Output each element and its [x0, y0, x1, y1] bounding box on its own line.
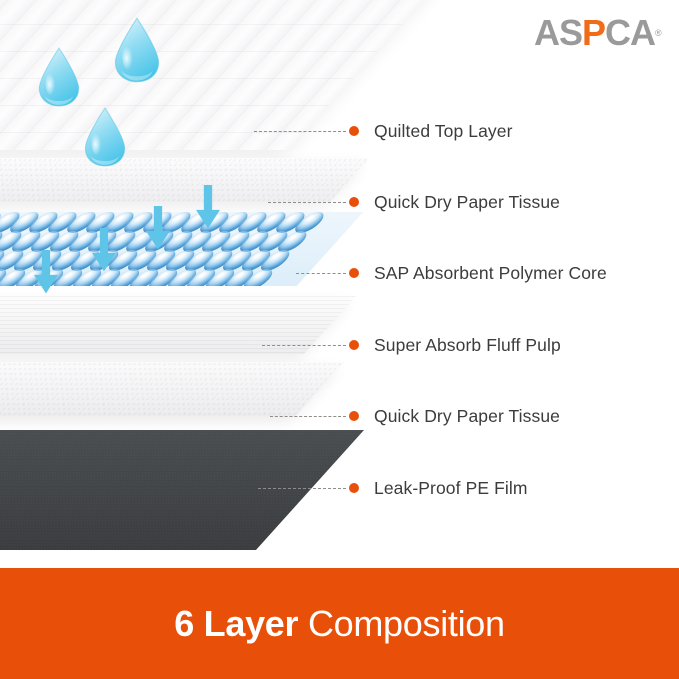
- logo-text-ca: CA: [605, 15, 655, 51]
- registered-trademark-icon: ®: [655, 28, 661, 38]
- down-arrow-icon: [146, 206, 170, 252]
- callout-label: Quick Dry Paper Tissue: [374, 192, 560, 213]
- callout-2: Quick Dry Paper Tissue: [240, 192, 560, 212]
- logo-text-as: AS: [534, 15, 582, 51]
- down-arrow-icon: [92, 228, 116, 274]
- callout-leader-line: [296, 273, 346, 274]
- callout-leader-line: [254, 131, 346, 132]
- callout-label: Super Absorb Fluff Pulp: [374, 335, 561, 356]
- callout-dot-icon: [349, 411, 359, 421]
- callout-leader-line: [262, 345, 346, 346]
- callout-3: SAP Absorbent Polymer Core: [240, 263, 607, 283]
- callout-label: Leak-Proof PE Film: [374, 478, 528, 499]
- banner-text-bold: 6 Layer: [174, 603, 298, 644]
- callout-6: Leak-Proof PE Film: [240, 478, 528, 498]
- callout-leader-line: [268, 202, 346, 203]
- product-layer-diagram: ASPCA® Quilted Top LayerQuick Dry Paper …: [0, 0, 679, 679]
- callout-dot-icon: [349, 126, 359, 136]
- water-droplet-icon: [112, 16, 162, 84]
- callout-4: Super Absorb Fluff Pulp: [240, 335, 561, 355]
- down-arrow-icon: [34, 250, 58, 296]
- callout-dot-icon: [349, 483, 359, 493]
- callout-1: Quilted Top Layer: [240, 121, 513, 141]
- callout-label: SAP Absorbent Polymer Core: [374, 263, 607, 284]
- banner-text-regular: Composition: [298, 603, 505, 644]
- water-droplet-icon: [36, 46, 82, 108]
- callout-label: Quick Dry Paper Tissue: [374, 406, 560, 427]
- down-arrow-icon: [196, 185, 220, 231]
- callout-dot-icon: [349, 268, 359, 278]
- callout-leader-line: [270, 416, 346, 417]
- callout-dot-icon: [349, 340, 359, 350]
- callout-label: Quilted Top Layer: [374, 121, 513, 142]
- callout-leader-line: [258, 488, 346, 489]
- bead-row: [0, 231, 346, 250]
- aspca-logo: ASPCA®: [534, 14, 666, 52]
- composition-banner: 6 Layer Composition: [0, 568, 679, 679]
- banner-text: 6 Layer Composition: [174, 603, 505, 645]
- bead-row: [0, 212, 363, 231]
- callout-5: Quick Dry Paper Tissue: [240, 406, 560, 426]
- callout-dot-icon: [349, 197, 359, 207]
- water-droplet-icon: [82, 106, 128, 168]
- logo-text-p: P: [582, 15, 605, 51]
